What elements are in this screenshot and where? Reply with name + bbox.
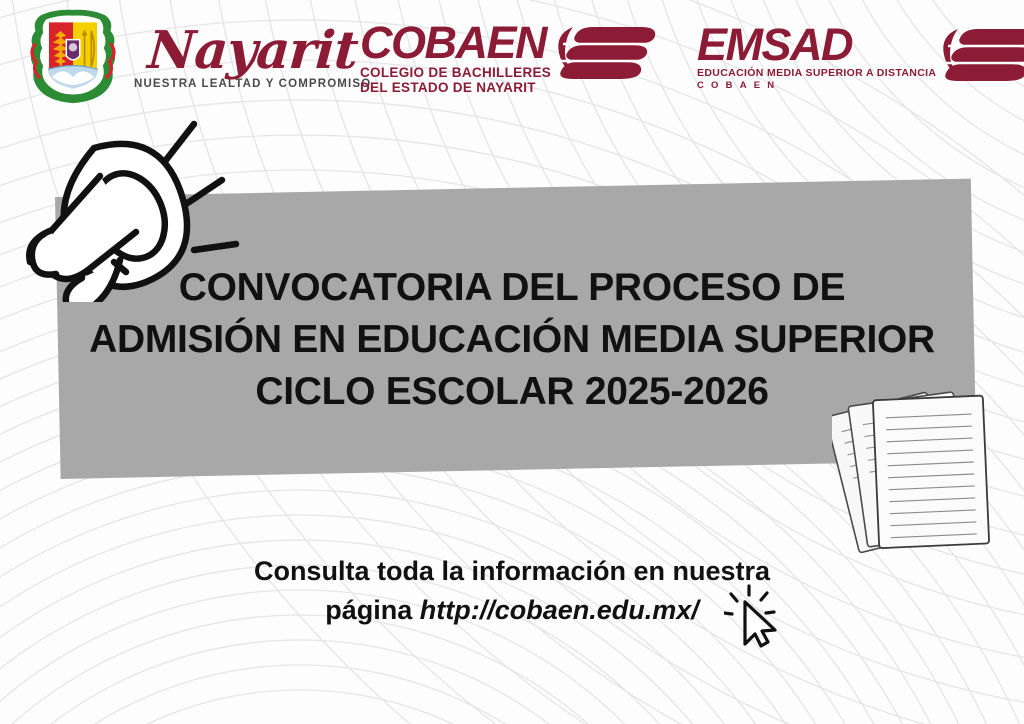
nayarit-wordmark: Nayarit bbox=[146, 26, 359, 75]
emsad-text-group: EMSAD EDUCACIÓN MEDIA SUPERIOR A DISTANC… bbox=[697, 24, 936, 91]
emsad-subtitle-line2: COBAEN bbox=[697, 80, 936, 91]
website-url-link[interactable]: http://cobaen.edu.mx/ bbox=[420, 595, 699, 625]
megaphone-icon bbox=[8, 112, 258, 302]
emsad-wordmark: EMSAD bbox=[697, 24, 936, 65]
mouse-cursor-click-icon bbox=[724, 584, 786, 650]
cobaen-wordmark: COBAEN bbox=[360, 22, 551, 63]
title-line-2: ADMISIÓN EN EDUCACIÓN MEDIA SUPERIOR bbox=[60, 314, 964, 366]
emsad-subtitle-line1: EDUCACIÓN MEDIA SUPERIOR A DISTANCIA bbox=[697, 67, 936, 79]
cobaen-cb-emblem-icon bbox=[555, 24, 663, 82]
cobaen-subtitle-line1: COLEGIO DE BACHILLERES bbox=[360, 66, 551, 81]
footer-line-2: página http://cobaen.edu.mx/ bbox=[0, 591, 1024, 630]
title-line-3: CICLO ESCOLAR 2025-2026 bbox=[60, 366, 964, 418]
cobaen-subtitle-line2: DEL ESTADO DE NAYARIT bbox=[360, 81, 551, 96]
header-logo-bar: Nayarit NUESTRA LEALTAD Y COMPROMISO COB… bbox=[0, 0, 1024, 112]
logo-cobaen: COBAEN COLEGIO DE BACHILLERES DEL ESTADO… bbox=[360, 22, 663, 96]
nayarit-coat-of-arms-icon bbox=[24, 6, 122, 106]
poster-canvas: Nayarit NUESTRA LEALTAD Y COMPROMISO COB… bbox=[0, 0, 1024, 724]
cobaen-text-group: COBAEN COLEGIO DE BACHILLERES DEL ESTADO… bbox=[360, 22, 551, 96]
footer-page-prefix: página bbox=[325, 595, 420, 625]
nayarit-wordmark-group: Nayarit NUESTRA LEALTAD Y COMPROMISO bbox=[134, 26, 371, 90]
logo-emsad: EMSAD EDUCACIÓN MEDIA SUPERIOR A DISTANC… bbox=[697, 24, 1024, 91]
stacked-documents-icon bbox=[832, 382, 1024, 562]
logo-nayarit: Nayarit NUESTRA LEALTAD Y COMPROMISO bbox=[24, 6, 371, 106]
footer-info: Consulta toda la información en nuestra … bbox=[0, 552, 1024, 630]
emsad-cb-emblem-icon bbox=[940, 26, 1024, 84]
